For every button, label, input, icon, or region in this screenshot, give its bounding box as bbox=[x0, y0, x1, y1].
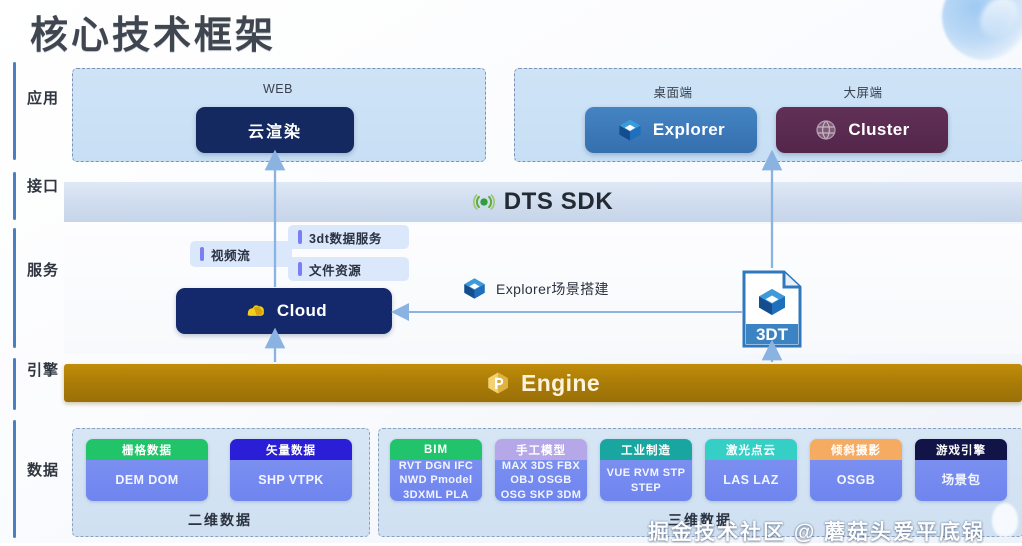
data-card-oblique-title: 倾斜摄影 bbox=[810, 439, 902, 460]
chip-video-stream-label: 视频流 bbox=[211, 245, 250, 264]
row-label-interface: 接口 bbox=[26, 178, 60, 195]
bar-marker-icon bbox=[298, 230, 302, 244]
data-card-lidar-title: 激光点云 bbox=[705, 439, 797, 460]
chip-file-resource-label: 文件资源 bbox=[309, 260, 361, 279]
watermark-dot-icon bbox=[992, 503, 1018, 537]
data-card-industrial-title: 工业制造 bbox=[600, 439, 692, 460]
row-rail-app bbox=[13, 62, 16, 160]
data-card-oblique[interactable]: 倾斜摄影 OSGB bbox=[810, 439, 902, 501]
data-card-raster[interactable]: 栅格数据 DEM DOM bbox=[86, 439, 208, 501]
row-label-engine: 引擎 bbox=[26, 362, 60, 379]
row-label-data: 数据 bbox=[26, 462, 60, 479]
dts-radar-icon bbox=[473, 191, 495, 213]
cluster-button[interactable]: Cluster bbox=[776, 107, 948, 153]
cloud-gold-icon bbox=[241, 298, 267, 324]
row-rail-engine bbox=[13, 358, 16, 410]
data-card-vector-body: SHP VTPK bbox=[230, 460, 352, 501]
svg-text:3DT: 3DT bbox=[756, 325, 789, 344]
data-card-bim-title: BIM bbox=[390, 439, 482, 460]
cluster-globe-icon bbox=[814, 118, 838, 142]
diagram-canvas: 核心技术框架 应用 接口 服务 引擎 数据 WEB 云渲染 桌面端 大屏端 Ex… bbox=[0, 0, 1022, 543]
engine-label: Engine bbox=[521, 370, 600, 397]
data-card-bim[interactable]: BIM RVT DGN IFC NWD Pmodel 3DXML PLA bbox=[390, 439, 482, 501]
dts-sdk-label: DTS SDK bbox=[504, 188, 614, 216]
chip-file-resource[interactable]: 文件资源 bbox=[288, 257, 409, 281]
explorer-label: Explorer bbox=[653, 120, 725, 140]
bigscreen-group-caption: 大屏端 bbox=[778, 82, 948, 101]
page-title: 核心技术框架 bbox=[30, 4, 276, 59]
chip-3dt-data-service[interactable]: 3dt数据服务 bbox=[288, 225, 409, 249]
data-card-raster-title: 栅格数据 bbox=[86, 439, 208, 460]
explorer-button[interactable]: Explorer bbox=[585, 107, 757, 153]
cloud-service-label: Cloud bbox=[277, 301, 327, 321]
decorative-highlight-icon bbox=[975, 0, 1022, 43]
data-group-2d-label: 二维数据 bbox=[72, 510, 368, 530]
bar-marker-icon bbox=[200, 247, 204, 261]
bar-marker-icon bbox=[298, 262, 302, 276]
explorer-cube-icon bbox=[617, 117, 643, 143]
desktop-group-caption: 桌面端 bbox=[588, 82, 758, 101]
data-card-manual-model[interactable]: 手工模型 MAX 3DS FBX OBJ OSGB OSG SKP 3DM bbox=[495, 439, 587, 501]
web-group-caption: WEB bbox=[72, 82, 484, 96]
dts-sdk-band: DTS SDK bbox=[64, 182, 1022, 222]
data-card-industrial[interactable]: 工业制造 VUE RVM STP STEP bbox=[600, 439, 692, 501]
data-card-vector-title: 矢量数据 bbox=[230, 439, 352, 460]
data-card-game-engine-body: 场景包 bbox=[915, 460, 1007, 501]
data-card-lidar-body: LAS LAZ bbox=[705, 460, 797, 501]
explorer-scene-flow: Explorer场景搭建 bbox=[462, 276, 609, 301]
file-3dt-node[interactable]: 3DT bbox=[742, 270, 802, 348]
data-card-raster-body: DEM DOM bbox=[86, 460, 208, 501]
data-card-bim-body: RVT DGN IFC NWD Pmodel 3DXML PLA bbox=[390, 460, 482, 501]
engine-bar[interactable]: Engine bbox=[64, 364, 1022, 402]
cluster-label: Cluster bbox=[848, 120, 909, 140]
engine-hex-icon bbox=[486, 371, 510, 395]
explorer-scene-flow-label: Explorer场景搭建 bbox=[496, 279, 609, 299]
row-rail-interface bbox=[13, 172, 16, 220]
data-card-industrial-body: VUE RVM STP STEP bbox=[600, 460, 692, 501]
decorative-blob-icon bbox=[942, 0, 1022, 60]
data-card-vector[interactable]: 矢量数据 SHP VTPK bbox=[230, 439, 352, 501]
cloud-service-button[interactable]: Cloud bbox=[176, 288, 392, 334]
data-card-manual-model-body: MAX 3DS FBX OBJ OSGB OSG SKP 3DM bbox=[495, 460, 587, 501]
watermark: 掘金技术社区 @ 蘑菇头爱平底锅 bbox=[648, 516, 985, 546]
row-rail-data bbox=[13, 420, 16, 538]
cloud-render-button[interactable]: 云渲染 bbox=[196, 107, 354, 153]
row-rail-service bbox=[13, 228, 16, 348]
row-label-app: 应用 bbox=[26, 90, 60, 107]
data-card-game-engine-title: 游戏引擎 bbox=[915, 439, 1007, 460]
cloud-render-label: 云渲染 bbox=[248, 118, 302, 142]
chip-video-stream[interactable]: 视频流 bbox=[190, 241, 292, 267]
chip-3dt-data-service-label: 3dt数据服务 bbox=[309, 228, 382, 247]
data-card-game-engine[interactable]: 游戏引擎 场景包 bbox=[915, 439, 1007, 501]
explorer-cube-icon bbox=[462, 276, 487, 301]
data-card-lidar[interactable]: 激光点云 LAS LAZ bbox=[705, 439, 797, 501]
row-label-service: 服务 bbox=[26, 262, 60, 279]
data-card-oblique-body: OSGB bbox=[810, 460, 902, 501]
data-card-manual-model-title: 手工模型 bbox=[495, 439, 587, 460]
